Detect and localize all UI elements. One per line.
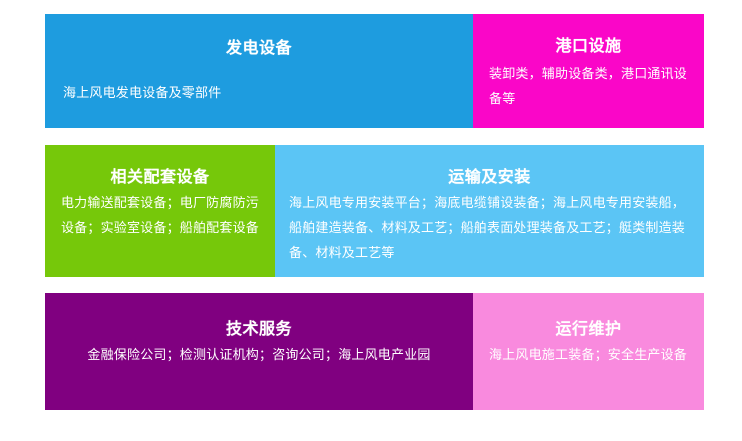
block-port-facility-description: 装卸类，辅助设备类，港口通讯设备等 [489,62,688,112]
block-technical-service-description: 金融保险公司；检测认证机构；咨询公司；海上风电产业园 [55,343,463,368]
block-support-equipment-title: 相关配套设备 [55,167,265,187]
block-power-generation-title: 发电设备 [45,38,473,58]
block-support-equipment[interactable]: 相关配套设备 电力输送配套设备；电厂防腐防污设备；实验室设备；船舶配套设备 [45,145,275,277]
block-technical-service-title: 技术服务 [55,319,463,339]
block-operation-maintenance-title: 运行维护 [489,319,688,339]
block-technical-service[interactable]: 技术服务 金融保险公司；检测认证机构；咨询公司；海上风电产业园 [45,293,473,410]
block-support-equipment-description: 电力输送配套设备；电厂防腐防污设备；实验室设备；船舶配套设备 [55,191,265,241]
block-transport-install-description: 海上风电专用安装平台；海底电缆铺设装备；海上风电专用安装船，船舶建造装备、材料及… [289,191,690,266]
block-port-facility[interactable]: 港口设施 装卸类，辅助设备类，港口通讯设备等 [473,14,704,128]
block-power-generation-description: 海上风电发电设备及零部件 [63,81,473,106]
block-port-facility-title: 港口设施 [489,36,688,56]
block-transport-install[interactable]: 运输及安装 海上风电专用安装平台；海底电缆铺设装备；海上风电专用安装船，船舶建造… [275,145,704,277]
block-operation-maintenance-description: 海上风电施工装备；安全生产设备 [489,343,688,368]
block-transport-install-title: 运输及安装 [289,167,690,187]
offshore-wind-industry-chain-diagram: 发电设备 海上风电发电设备及零部件 港口设施 装卸类，辅助设备类，港口通讯设备等… [0,0,742,441]
block-operation-maintenance[interactable]: 运行维护 海上风电施工装备；安全生产设备 [473,293,704,410]
block-power-generation[interactable]: 发电设备 海上风电发电设备及零部件 [45,14,473,128]
